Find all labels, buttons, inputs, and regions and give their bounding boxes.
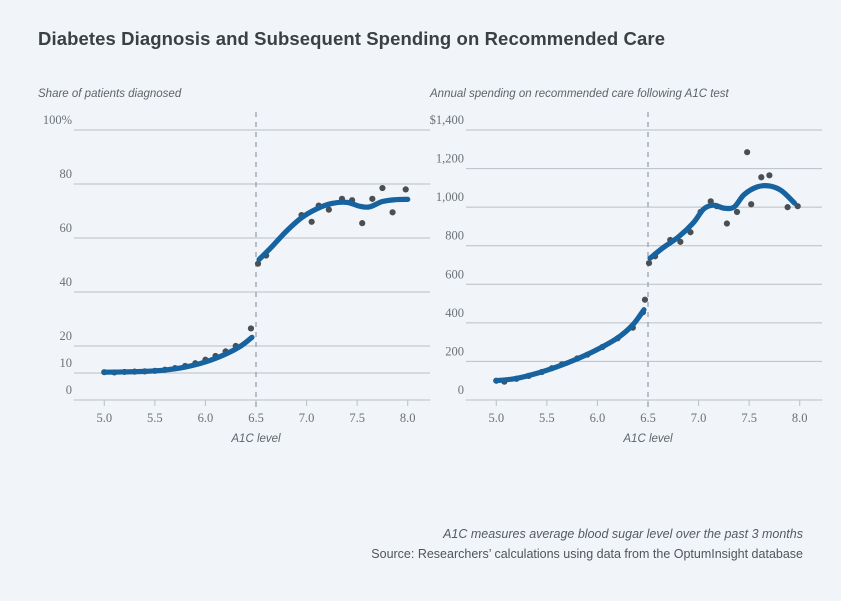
x-tick-label: 7.0	[691, 411, 707, 425]
x-tick-label: 7.0	[299, 411, 315, 425]
chart-figure: Diabetes Diagnosis and Subsequent Spendi…	[0, 0, 841, 601]
x-tick-label: 6.5	[640, 411, 656, 425]
y-tick-label: 1,200	[436, 152, 464, 166]
data-point	[734, 209, 740, 215]
y-tick-label: 1,000	[436, 190, 464, 204]
data-point	[642, 297, 648, 303]
x-axis-title: A1C level	[230, 433, 281, 445]
data-point	[744, 149, 750, 155]
fit-line	[496, 310, 644, 381]
plot-right: 02004006008001,0001,200$1,4005.05.56.06.…	[428, 88, 828, 488]
data-point	[646, 260, 652, 266]
y-tick-label: 60	[60, 221, 73, 235]
y-tick-label: 800	[445, 229, 464, 243]
y-tick-label: 600	[445, 267, 464, 281]
x-tick-label: 6.0	[198, 411, 214, 425]
x-axis-title: A1C level	[622, 433, 673, 445]
footer-note: A1C measures average blood sugar level o…	[443, 527, 803, 541]
x-tick-label: 5.5	[539, 411, 555, 425]
data-point	[403, 186, 409, 192]
data-point	[379, 185, 385, 191]
x-tick-label: 5.5	[147, 411, 163, 425]
x-tick-label: 5.0	[488, 411, 504, 425]
y-tick-label: 20	[60, 329, 73, 343]
x-tick-label: 7.5	[349, 411, 365, 425]
data-point	[724, 220, 730, 226]
y-tick-label: 40	[60, 275, 73, 289]
x-tick-label: 8.0	[400, 411, 416, 425]
fit-line	[104, 337, 252, 372]
fit-line	[259, 199, 408, 259]
data-point	[359, 220, 365, 226]
x-tick-label: 8.0	[792, 411, 808, 425]
data-point	[369, 196, 375, 202]
fit-line	[650, 186, 795, 259]
x-tick-label: 6.0	[590, 411, 606, 425]
data-point	[766, 172, 772, 178]
data-point	[248, 325, 254, 331]
data-point	[309, 219, 315, 225]
page-title: Diabetes Diagnosis and Subsequent Spendi…	[38, 28, 665, 50]
x-tick-label: 6.5	[248, 411, 264, 425]
y-tick-label: 80	[60, 167, 73, 181]
footer-source: Source: Researchers’ calculations using …	[371, 547, 803, 561]
y-tick-label: 0	[458, 383, 464, 397]
data-point	[785, 204, 791, 210]
x-tick-label: 7.5	[741, 411, 757, 425]
data-point	[758, 174, 764, 180]
data-point	[389, 209, 395, 215]
y-tick-label: 100%	[43, 113, 72, 127]
data-point	[748, 201, 754, 207]
y-tick-label: 200	[445, 344, 464, 358]
plot-left: 01020406080100%5.05.56.06.57.07.58.0A1C …	[36, 88, 436, 488]
y-tick-label: 0	[66, 383, 72, 397]
x-tick-label: 5.0	[96, 411, 112, 425]
y-tick-label: 400	[445, 306, 464, 320]
panel-annual-spending: Annual spending on recommended care foll…	[428, 88, 828, 488]
y-tick-label: $1,400	[430, 113, 464, 127]
panel-share-diagnosed: Share of patients diagnosed 010204060801…	[36, 88, 436, 488]
y-tick-label: 10	[60, 356, 73, 370]
